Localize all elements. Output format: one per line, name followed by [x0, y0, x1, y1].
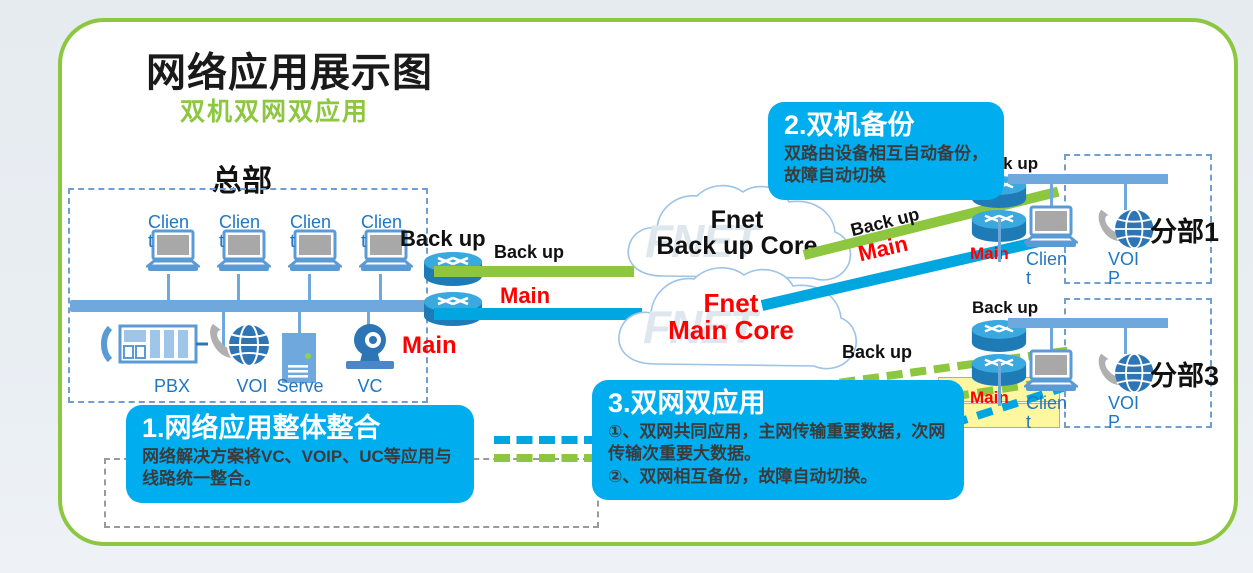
page-title: 网络应用展示图	[146, 40, 433, 98]
pbx-device[interactable]	[98, 320, 208, 373]
callout-3-title: 3.双网双应用	[608, 388, 948, 419]
branch1-client-label: Client	[1026, 250, 1072, 288]
callout-2-title: 2.双机备份	[784, 110, 988, 141]
branch1-bus	[1008, 174, 1168, 184]
diagram-frame: 网络应用展示图 双机双网双应用 总部	[58, 18, 1238, 546]
hq-backup-router-label: Back up	[400, 226, 486, 252]
vc-label: VC	[340, 376, 400, 397]
branch3-backup-router-label: Back up	[972, 298, 1038, 318]
callout-1[interactable]: 1.网络应用整体整合 网络解决方案将VC、VOIP、UC等应用与线路统一整合。	[126, 405, 474, 503]
branch3-backup-label: Back up	[842, 342, 912, 363]
branch3-router-drop	[998, 362, 1001, 406]
voip-device[interactable]	[205, 318, 275, 377]
server-label: Serve	[270, 376, 330, 397]
callout-2-body: 双路由设备相互自动备份，故障自动切换	[784, 143, 988, 188]
client-label: Client	[290, 213, 336, 251]
callout-3-body-line2: ②、双网相互备份，故障自动切换。	[608, 466, 948, 488]
branch1-client-drop	[1050, 184, 1053, 206]
laptop-icon	[1024, 205, 1078, 251]
laptop-icon	[1024, 349, 1078, 395]
backup-link-line	[434, 266, 634, 277]
bottom-backup-dashed-line	[494, 454, 600, 462]
callout-1-title: 1.网络应用整体整合	[142, 413, 458, 444]
voip-globe-icon	[1094, 204, 1158, 254]
branch1-name: 分部1	[1150, 210, 1219, 249]
client-label: Client	[219, 213, 265, 251]
callout-2[interactable]: 2.双机备份 双路由设备相互自动备份，故障自动切换	[768, 102, 1004, 200]
callout-3[interactable]: 3.双网双应用 ①、双网共同应用，主网传输重要数据，次网传输次重要大数据。 ②、…	[592, 380, 964, 500]
branch3-client-drop	[1050, 328, 1053, 350]
branch1-main-router-label: Main	[970, 244, 1009, 264]
branch3-name: 分部3	[1150, 354, 1219, 393]
vc-device[interactable]	[342, 322, 398, 377]
bottom-main-dashed-line	[494, 436, 600, 444]
pbx-icon	[98, 320, 208, 368]
video-camera-icon	[342, 322, 398, 372]
voip-globe-icon	[1094, 348, 1158, 398]
device-drop-line	[298, 310, 301, 334]
branch3-main-router-label: Main	[970, 388, 1009, 408]
pbx-label: PBX	[142, 376, 202, 397]
cloud-label-line2: Main Core	[622, 317, 840, 344]
diagram-canvas: 网络应用展示图 双机双网双应用 总部	[0, 0, 1253, 573]
branch1-router-drop	[998, 218, 1001, 262]
headquarters-backbone-bus	[70, 300, 442, 312]
main-link-label: Main	[500, 283, 550, 309]
client-label: Client	[148, 213, 194, 251]
backup-link-label: Back up	[494, 242, 564, 263]
branch1-voip-label: VOIP	[1108, 250, 1142, 288]
branch3-voip-label: VOIP	[1108, 394, 1142, 432]
page-subtitle: 双机双网双应用	[180, 92, 369, 128]
hq-main-router-label: Main	[402, 332, 457, 360]
branch3-bus	[1008, 318, 1168, 328]
callout-3-body-line1: ①、双网共同应用，主网传输重要数据，次网传输次重要大数据。	[608, 421, 948, 466]
voip-globe-icon	[205, 318, 275, 372]
branch3-client-label: Client	[1026, 394, 1072, 432]
cloud-label-line1: Fnet	[632, 208, 842, 234]
callout-1-body: 网络解决方案将VC、VOIP、UC等应用与线路统一整合。	[142, 446, 458, 491]
